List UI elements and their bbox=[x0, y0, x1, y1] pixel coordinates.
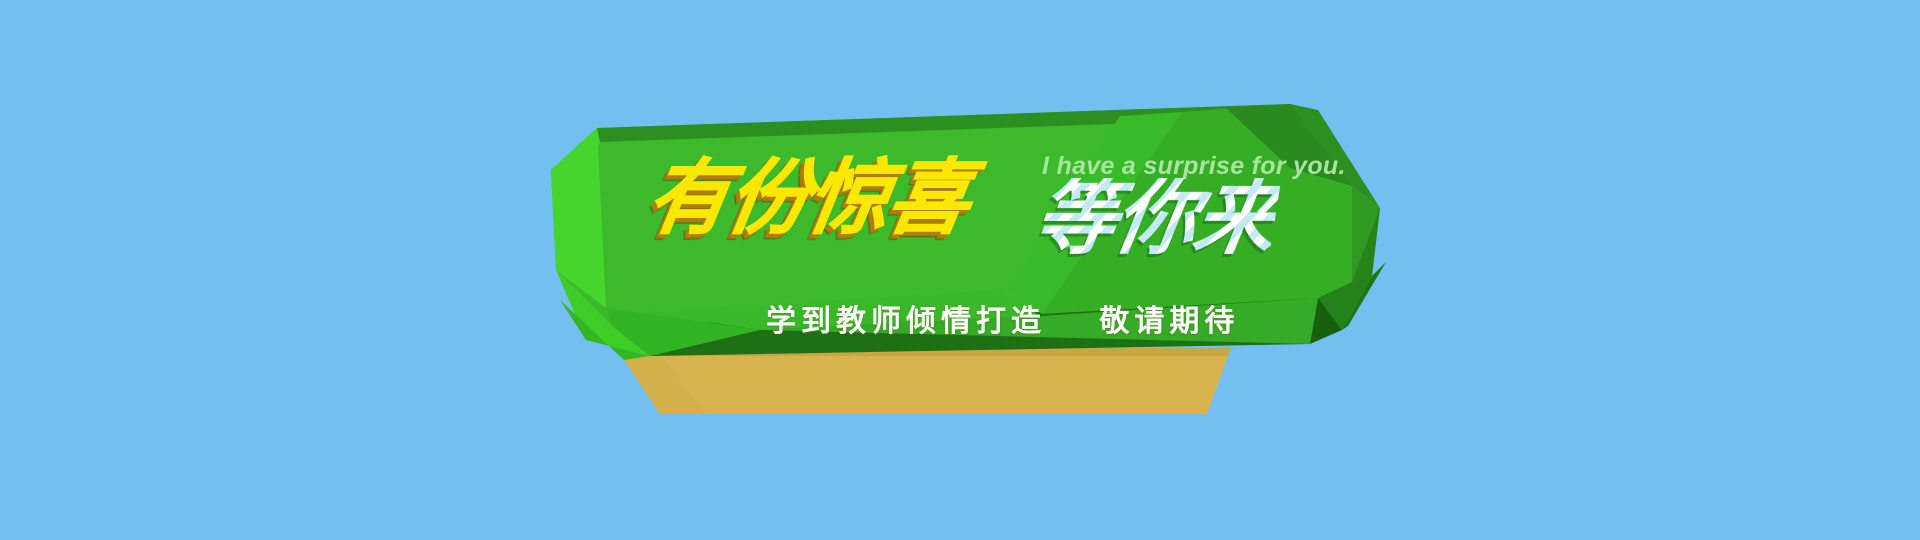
faceted-gem-artwork bbox=[0, 0, 1920, 540]
gem-body-group bbox=[551, 104, 1386, 360]
gold-band-group bbox=[624, 348, 1231, 414]
gem-facet-left-bright bbox=[551, 128, 606, 308]
promo-banner: I have a surprise for you. 有份惊喜 等你来 学到教师… bbox=[0, 0, 1920, 540]
gold-band-shape bbox=[655, 348, 1231, 414]
